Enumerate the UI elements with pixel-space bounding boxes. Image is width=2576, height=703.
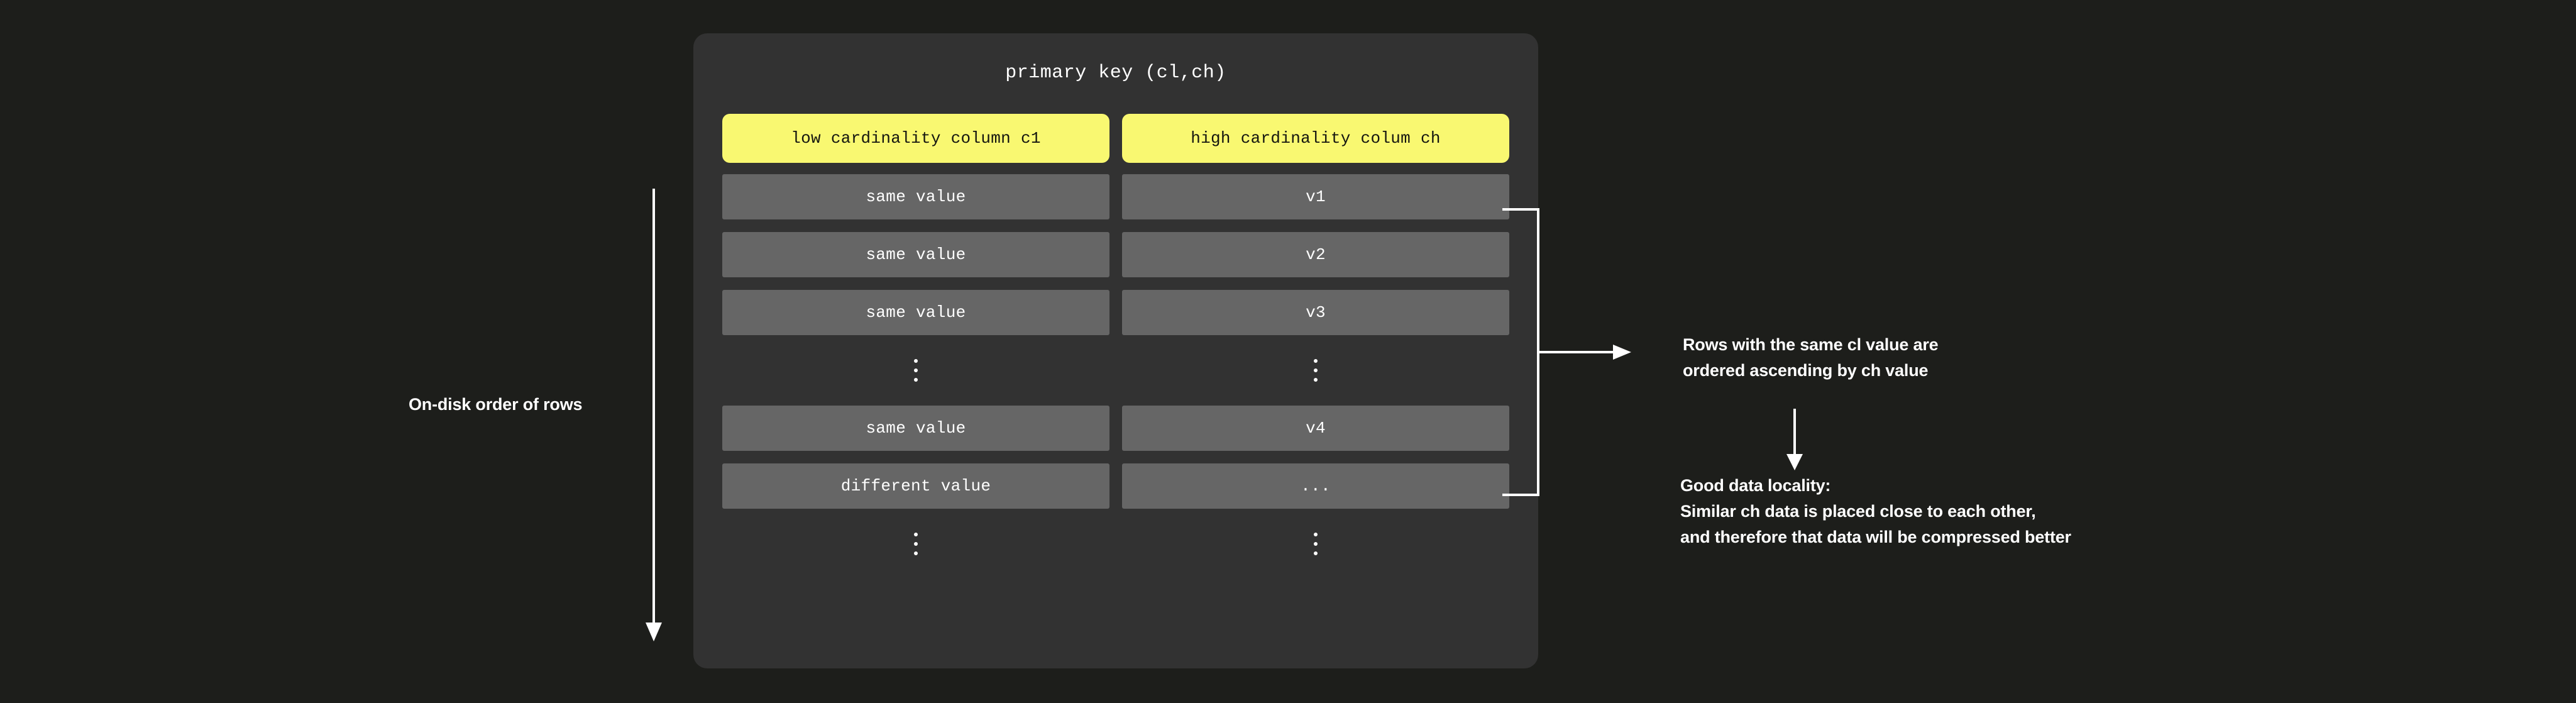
- panel-title: primary key (cl,ch): [693, 62, 1538, 84]
- cell-ch-value: v1: [1122, 174, 1509, 219]
- annotation-locality-line-3: and therefore that data will be compress…: [1680, 524, 2071, 550]
- table-row: same value v4: [722, 406, 1509, 451]
- on-disk-order-label: On-disk order of rows: [409, 395, 582, 414]
- cell-ch-value: ...: [1122, 463, 1509, 509]
- annotation-locality: Good data locality: Similar ch data is p…: [1680, 473, 2071, 550]
- table-row: same value v3: [722, 290, 1509, 335]
- cell-cl-value: different value: [722, 463, 1109, 509]
- primary-key-panel: primary key (cl,ch) low cardinality colu…: [693, 33, 1538, 668]
- column-header-high-cardinality: high cardinality colum ch: [1122, 114, 1509, 163]
- annotation-ordering-line-2: ordered ascending by ch value: [1683, 358, 1938, 384]
- columns-grid: low cardinality column c1 high cardinali…: [722, 114, 1509, 579]
- annotation-ordering-line-1: Rows with the same cl value are: [1683, 332, 1938, 358]
- vertical-ellipsis-icon: [1122, 348, 1509, 393]
- annotation-locality-line-2: Similar ch data is placed close to each …: [1680, 499, 2071, 524]
- cell-ch-value: v2: [1122, 232, 1509, 277]
- vertical-ellipsis-icon: [1122, 521, 1509, 567]
- cell-cl-value: same value: [722, 406, 1109, 451]
- column-header-row: low cardinality column c1 high cardinali…: [722, 114, 1509, 163]
- column-header-low-cardinality: low cardinality column c1: [722, 114, 1109, 163]
- cell-ch-value: v4: [1122, 406, 1509, 451]
- cell-cl-value: same value: [722, 290, 1109, 335]
- table-row: different value ...: [722, 463, 1509, 509]
- cell-ch-value: v3: [1122, 290, 1509, 335]
- on-disk-order-arrow-down-icon: [641, 182, 691, 648]
- annotation-ordering: Rows with the same cl value are ordered …: [1683, 332, 1938, 384]
- annotation-connector-arrow-down-icon: [1773, 409, 1817, 478]
- vertical-ellipsis-icon: [722, 521, 1109, 567]
- cell-cl-value: same value: [722, 232, 1109, 277]
- table-row: same value v1: [722, 174, 1509, 219]
- table-row-ellipsis: [722, 348, 1509, 393]
- table-row: same value v2: [722, 232, 1509, 277]
- cell-cl-value: same value: [722, 174, 1109, 219]
- annotation-locality-line-1: Good data locality:: [1680, 473, 2071, 499]
- vertical-ellipsis-icon: [722, 348, 1109, 393]
- table-row-ellipsis: [722, 521, 1509, 567]
